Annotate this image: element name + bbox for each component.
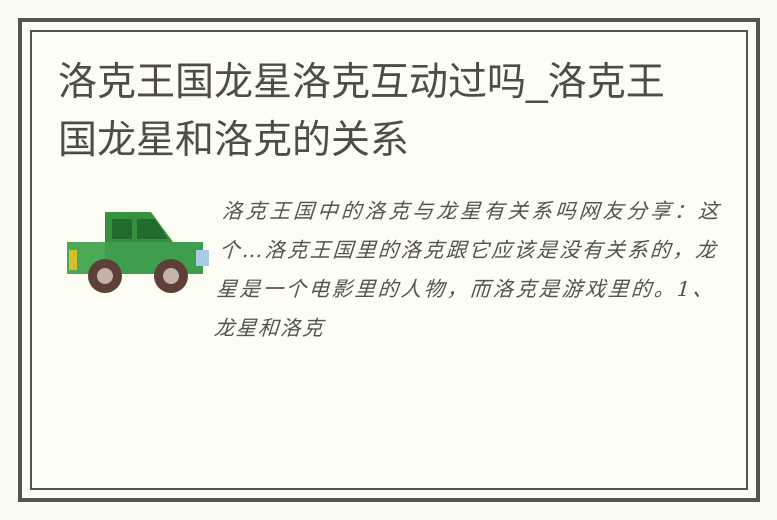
decorative-inner-frame: 洛克王国龙星洛克互动过吗_洛克王国龙星和洛克的关系 [30,30,748,490]
page-root: 洛克王国龙星洛克互动过吗_洛克王国龙星和洛克的关系 [0,0,777,520]
page-title: 洛克王国龙星洛克互动过吗_洛克王国龙星和洛克的关系 [58,54,678,170]
article-excerpt: 洛克王国中的洛克与龙星有关系吗网友分享：这个…洛克王国里的洛克跟它应该是没有关系… [213,192,726,348]
decorative-outer-frame: 洛克王国龙星洛克互动过吗_洛克王国龙星和洛克的关系 [18,18,760,502]
article-card: 洛克王国龙星洛克互动过吗_洛克王国龙星和洛克的关系 [32,32,746,488]
article-body: 洛克王国中的洛克与龙星有关系吗网友分享：这个…洛克王国里的洛克跟它应该是没有关系… [58,192,720,348]
pickup-truck-icon [63,200,213,300]
article-thumbnail [58,192,218,300]
